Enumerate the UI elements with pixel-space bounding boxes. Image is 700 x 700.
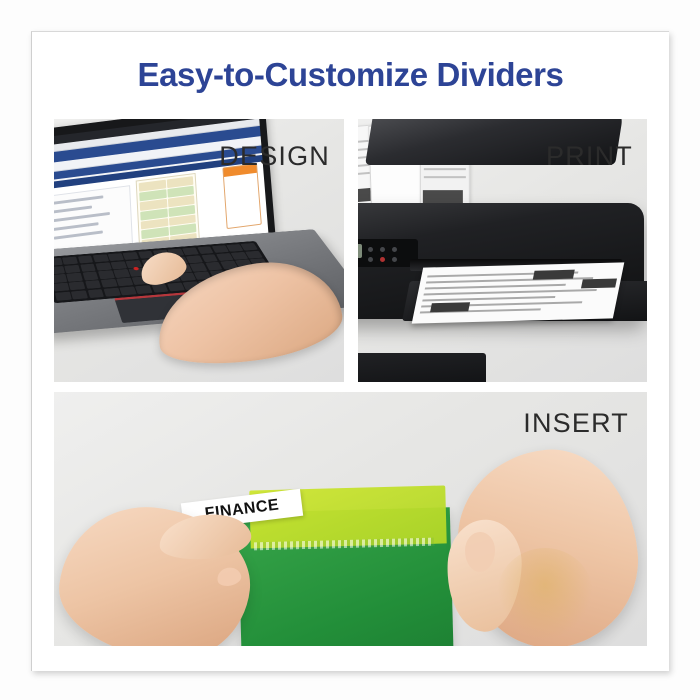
printed-divider-sheets xyxy=(412,262,625,323)
page-title: Easy-to-Customize Dividers xyxy=(32,56,669,94)
fingers-seen-through-divider xyxy=(497,548,593,640)
screenshot-stage: Easy-to-Customize Dividers xyxy=(0,0,700,700)
printer-paper-cassette xyxy=(358,353,486,382)
caption-design: DESIGN xyxy=(219,143,330,170)
panel-print: PRINT xyxy=(358,119,647,382)
printer-body xyxy=(358,203,644,319)
printer-lcd-display xyxy=(358,244,362,258)
caption-print: PRINT xyxy=(546,143,633,170)
product-card: Easy-to-Customize Dividers xyxy=(31,31,669,671)
panel-design: DESIGN xyxy=(54,119,344,382)
trackpoint-nub xyxy=(133,267,139,271)
template-thumbnail xyxy=(222,163,261,229)
left-fingernail xyxy=(215,565,242,588)
printer-control-panel xyxy=(358,239,418,267)
left-hand-inserting-label xyxy=(54,498,257,646)
panel-insert: FINANCE INSERT xyxy=(54,392,647,646)
caption-insert: INSERT xyxy=(523,410,629,437)
